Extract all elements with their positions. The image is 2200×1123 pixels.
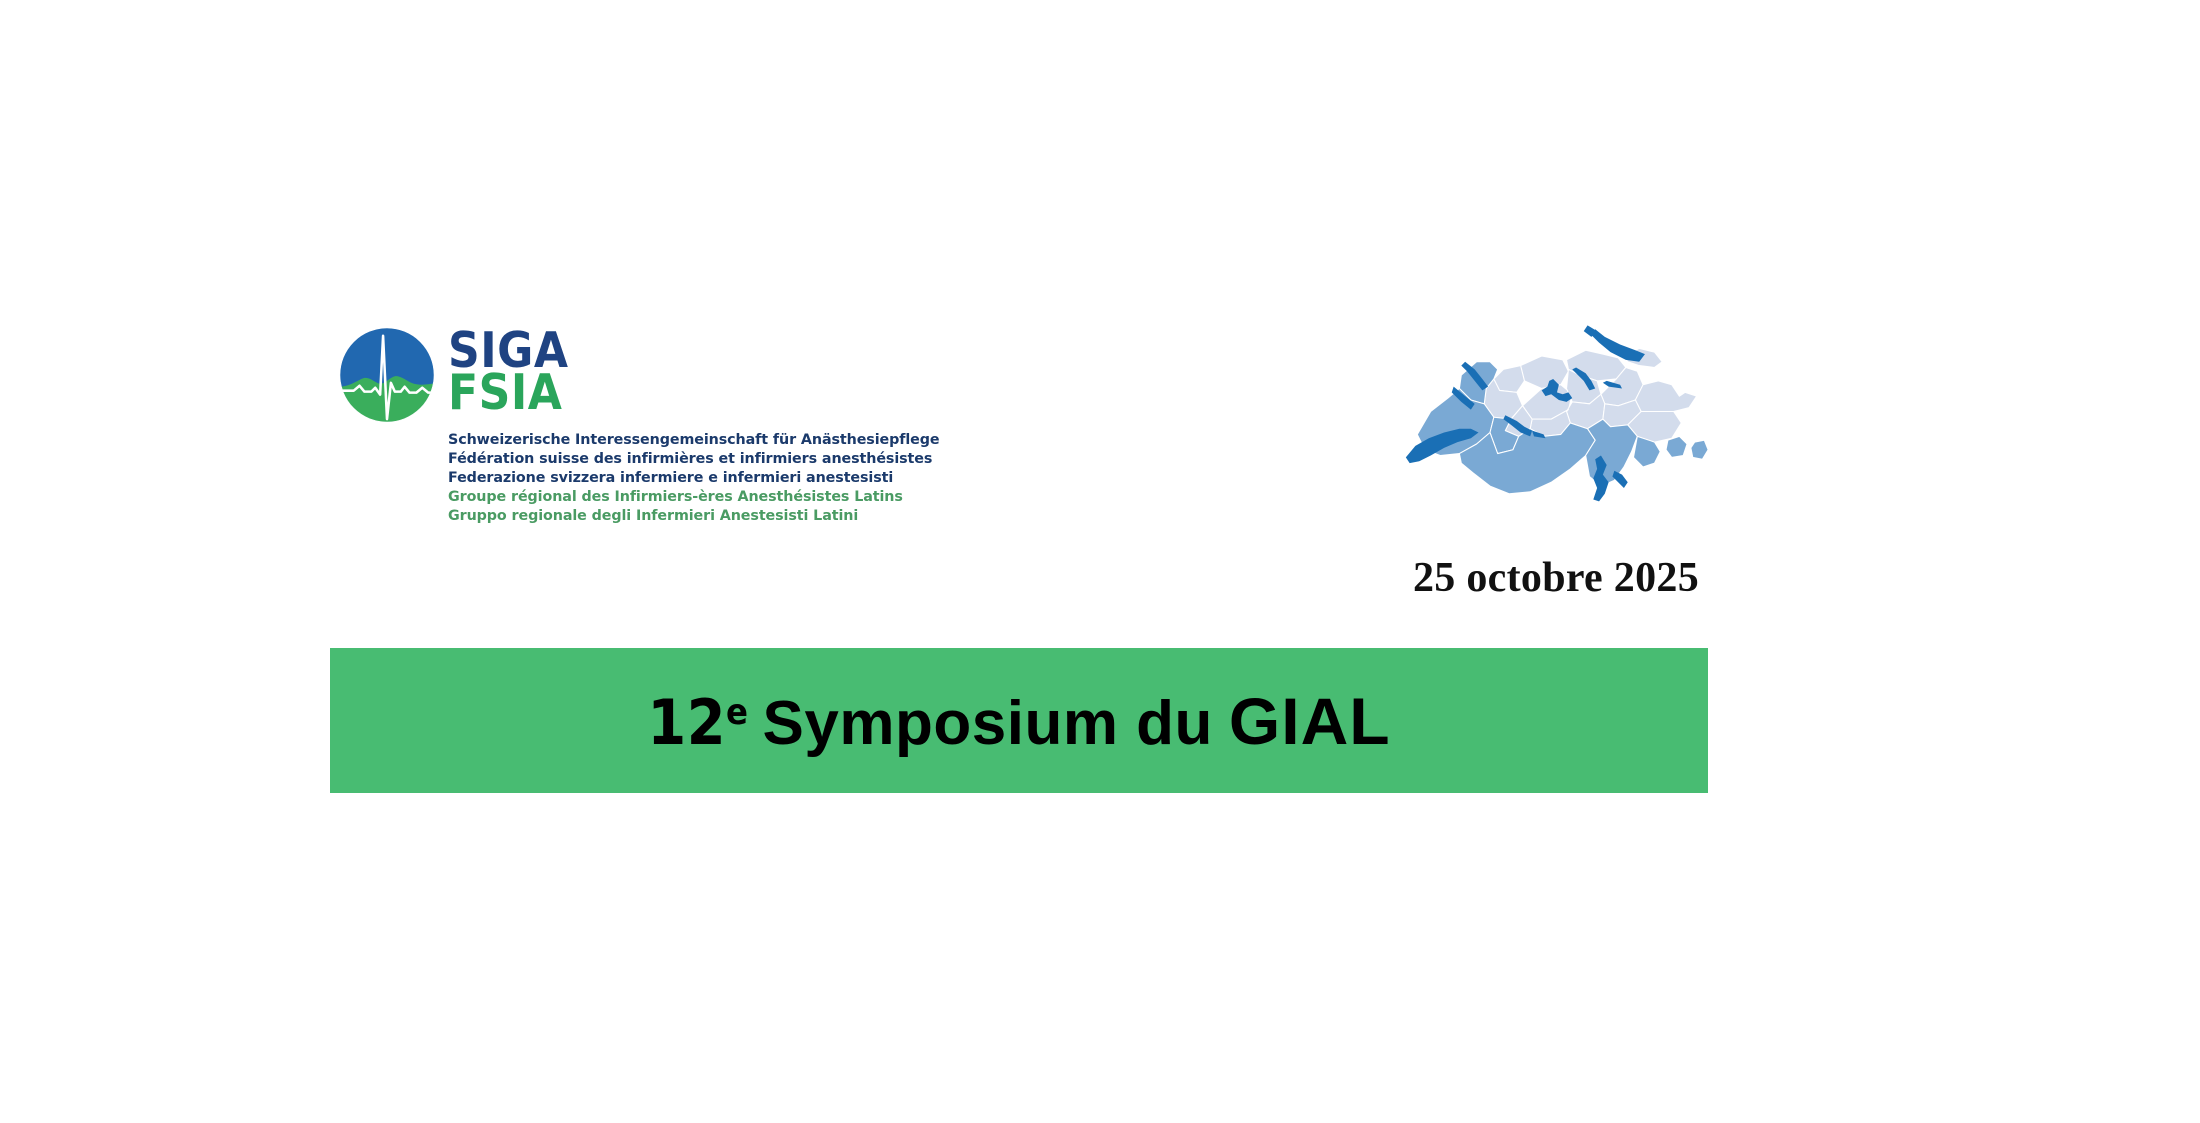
logo-subtitle-gial-it: Gruppo regionale degli Infermieri Aneste… — [448, 507, 868, 526]
title-ordinal-suffix: e — [726, 692, 748, 733]
siga-fsia-wordmark: SIGA FSIA — [448, 326, 568, 414]
logo-subtitle-it: Federazione svizzera infermiere e inferm… — [448, 469, 868, 488]
event-date: 25 octobre 2025 — [1397, 554, 1715, 602]
logo-subtitle-fr: Fédération suisse des infirmières et inf… — [448, 450, 868, 469]
logo-subtitle-list: Schweizerische Interessengemeinschaft fü… — [448, 431, 868, 526]
siga-fsia-logo-block: SIGA FSIA Schweizerische Interessengemei… — [338, 326, 868, 526]
symposium-title: 12eSymposium duGIAL — [647, 683, 1390, 759]
map-and-date-block: 25 octobre 2025 — [1397, 312, 1715, 602]
title-main-text: Symposium du — [763, 688, 1213, 759]
logo-row: SIGA FSIA — [338, 326, 868, 424]
slide-root: SIGA FSIA Schweizerische Interessengemei… — [0, 0, 2200, 1123]
title-acronym: GIAL — [1229, 683, 1391, 759]
siga-fsia-logo-icon — [338, 326, 436, 424]
title-banner: 12eSymposium duGIAL — [330, 648, 1708, 793]
title-edition-number: 12 — [647, 686, 726, 759]
switzerland-map-icon — [1397, 312, 1715, 532]
logo-subtitle-gial-fr: Groupe régional des Infirmiers-ères Anes… — [448, 488, 868, 507]
wordmark-fsia: FSIA — [448, 372, 568, 414]
logo-subtitle-de: Schweizerische Interessengemeinschaft fü… — [448, 431, 868, 450]
